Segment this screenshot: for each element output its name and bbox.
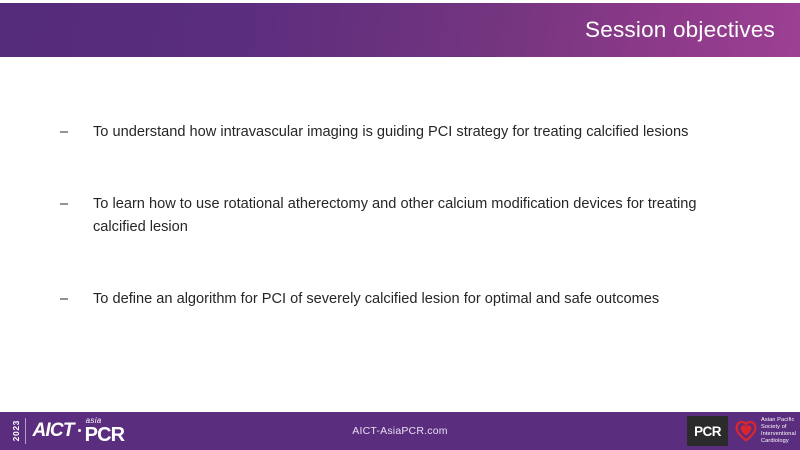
list-item: – To understand how intravascular imagin… — [60, 121, 760, 144]
asiapcr-wordmark: asia PCR — [85, 417, 125, 444]
footer-branding-left: 2023 AICT asia PCR — [12, 412, 124, 450]
apsic-line-3: Interventional — [761, 431, 796, 438]
apsic-logo: Asian Pacific Society of Interventional … — [734, 417, 796, 445]
pcr-logo-badge: PCR — [687, 416, 728, 446]
footer-branding-right: PCR Asian Pacific Society of Interventio… — [687, 412, 796, 450]
slide-header-bar: Session objectives — [0, 3, 800, 57]
objective-text: To define an algorithm for PCI of severe… — [93, 288, 738, 311]
objective-text: To learn how to use rotational atherecto… — [93, 193, 738, 239]
apsic-line-4: Cardiology — [761, 438, 796, 445]
bullet-dash-icon: – — [60, 193, 93, 216]
slide-footer-bar: 2023 AICT asia PCR AICT-AsiaPCR.com PCR — [0, 412, 800, 450]
aict-wordmark: AICT — [33, 421, 74, 440]
apsic-name-block: Asian Pacific Society of Interventional … — [761, 417, 796, 445]
presentation-slide: Session objectives – To understand how i… — [0, 0, 800, 450]
logo-dot-icon — [78, 429, 81, 432]
apsic-line-1: Asian Pacific — [761, 417, 796, 424]
slide-body: – To understand how intravascular imagin… — [0, 57, 800, 412]
pcr-label: PCR — [85, 426, 125, 444]
event-year-label: 2023 — [12, 420, 21, 441]
aict-asiapcr-logo: AICT asia PCR — [33, 417, 125, 444]
pcr-badge-label: PCR — [694, 424, 721, 439]
list-item: – To define an algorithm for PCI of seve… — [60, 288, 760, 311]
page-title: Session objectives — [585, 17, 800, 43]
bullet-dash-icon: – — [60, 288, 93, 311]
bullet-dash-icon: – — [60, 121, 93, 144]
objectives-list: – To understand how intravascular imagin… — [60, 121, 760, 311]
footer-divider — [25, 418, 26, 444]
objective-text: To understand how intravascular imaging … — [93, 121, 738, 144]
footer-website-url: AICT-AsiaPCR.com — [352, 425, 447, 437]
apsic-line-2: Society of — [761, 424, 796, 431]
list-item: – To learn how to use rotational atherec… — [60, 193, 760, 239]
heart-icon — [734, 420, 758, 442]
